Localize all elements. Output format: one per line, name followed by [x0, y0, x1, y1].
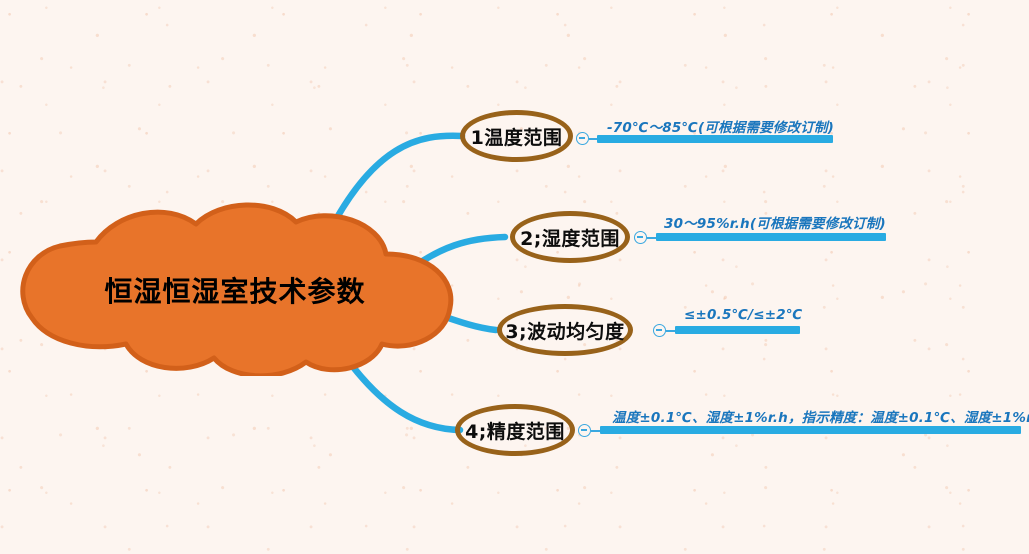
- branch-node-humidity-range[interactable]: 2;湿度范围: [510, 211, 630, 263]
- value-bar-temperature-range: [597, 135, 833, 143]
- mindmap-canvas: 恒湿恒湿室技术参数 1温度范围 -70℃～85℃(可根据需要修改订制) 2;湿度…: [0, 0, 1029, 554]
- branch-node-label-humidity-range: 2;湿度范围: [520, 224, 620, 251]
- collapse-toggle-accuracy-range[interactable]: [578, 424, 591, 437]
- branch-node-temperature-range[interactable]: 1温度范围: [460, 110, 573, 162]
- value-bar-accuracy-range: [600, 426, 1021, 434]
- branch-node-fluctuation-uniformity[interactable]: 3;波动均匀度: [497, 304, 633, 356]
- central-node[interactable]: 恒湿恒湿室技术参数: [0, 196, 470, 376]
- collapse-toggle-fluctuation-uniformity[interactable]: [653, 324, 666, 337]
- central-node-label: 恒湿恒湿室技术参数: [0, 270, 470, 310]
- value-text-temperature-range: -70℃～85℃(可根据需要修改订制): [607, 116, 834, 136]
- collapse-toggle-humidity-range[interactable]: [634, 231, 647, 244]
- value-text-fluctuation-uniformity: ≤±0.5℃/≤±2℃: [684, 307, 802, 323]
- value-text-accuracy-range: 温度±0.1℃、湿度±1%r.h，指示精度：温度±0.1℃、湿度±1%r.h: [612, 406, 1029, 426]
- branch-node-label-accuracy-range: 4;精度范围: [465, 417, 565, 444]
- branch-node-label-temperature-range: 1温度范围: [471, 123, 563, 150]
- value-bar-fluctuation-uniformity: [675, 326, 800, 334]
- branch-node-label-fluctuation-uniformity: 3;波动均匀度: [505, 317, 624, 344]
- value-bar-humidity-range: [656, 233, 886, 241]
- value-text-humidity-range: 30～95%r.h(可根据需要修改订制): [664, 212, 886, 232]
- collapse-toggle-temperature-range[interactable]: [576, 132, 589, 145]
- branch-node-accuracy-range[interactable]: 4;精度范围: [455, 404, 575, 456]
